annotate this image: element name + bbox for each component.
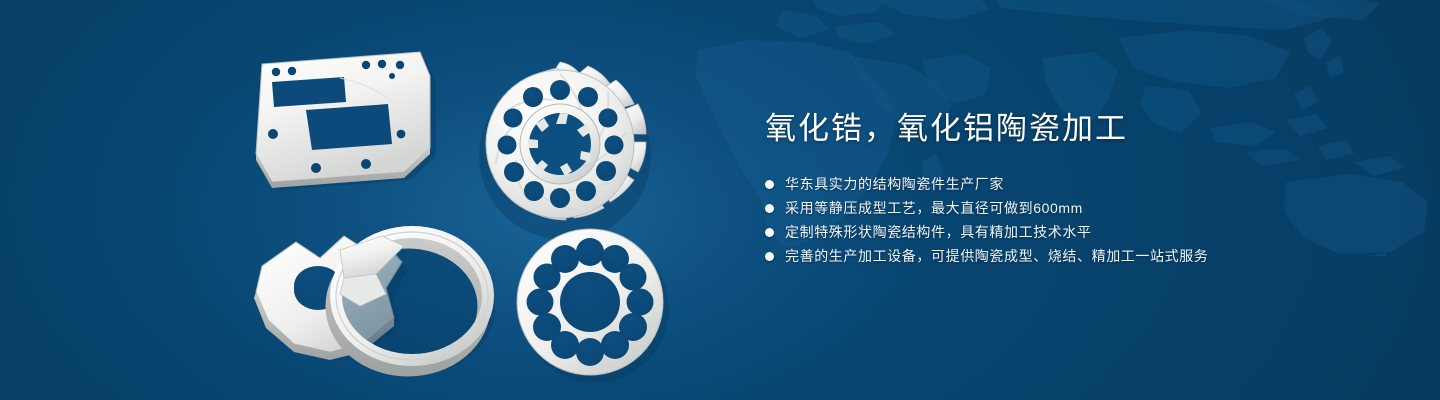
banner-copy: 氧化锆，氧化铝陶瓷加工 华东具实力的结构陶瓷件生产厂家 采用等静压成型工艺，最大…: [765, 108, 1365, 268]
list-item: 完善的生产加工设备，可提供陶瓷成型、烧结、精加工一站式服务: [765, 244, 1365, 268]
list-item-label: 完善的生产加工设备，可提供陶瓷成型、烧结、精加工一站式服务: [785, 245, 1208, 267]
list-item: 采用等静压成型工艺，最大直径可做到600mm: [765, 196, 1365, 220]
list-item-label: 采用等静压成型工艺，最大直径可做到600mm: [785, 197, 1083, 219]
list-item: 定制特殊形状陶瓷结构件，具有精加工技术水平: [765, 220, 1365, 244]
bullet-dot-icon: [765, 228, 774, 237]
page-title: 氧化锆，氧化铝陶瓷加工: [765, 108, 1365, 150]
list-item: 华东具实力的结构陶瓷件生产厂家: [765, 172, 1365, 196]
feature-list: 华东具实力的结构陶瓷件生产厂家 采用等静压成型工艺，最大直径可做到600mm 定…: [765, 172, 1365, 268]
list-item-label: 定制特殊形状陶瓷结构件，具有精加工技术水平: [785, 221, 1092, 243]
bullet-dot-icon: [765, 180, 774, 189]
bullet-dot-icon: [765, 204, 774, 213]
bullet-dot-icon: [765, 252, 774, 261]
list-item-label: 华东具实力的结构陶瓷件生产厂家: [785, 173, 1004, 195]
ceramic-products-banner: 氧化锆，氧化铝陶瓷加工 华东具实力的结构陶瓷件生产厂家 采用等静压成型工艺，最大…: [0, 0, 1440, 400]
